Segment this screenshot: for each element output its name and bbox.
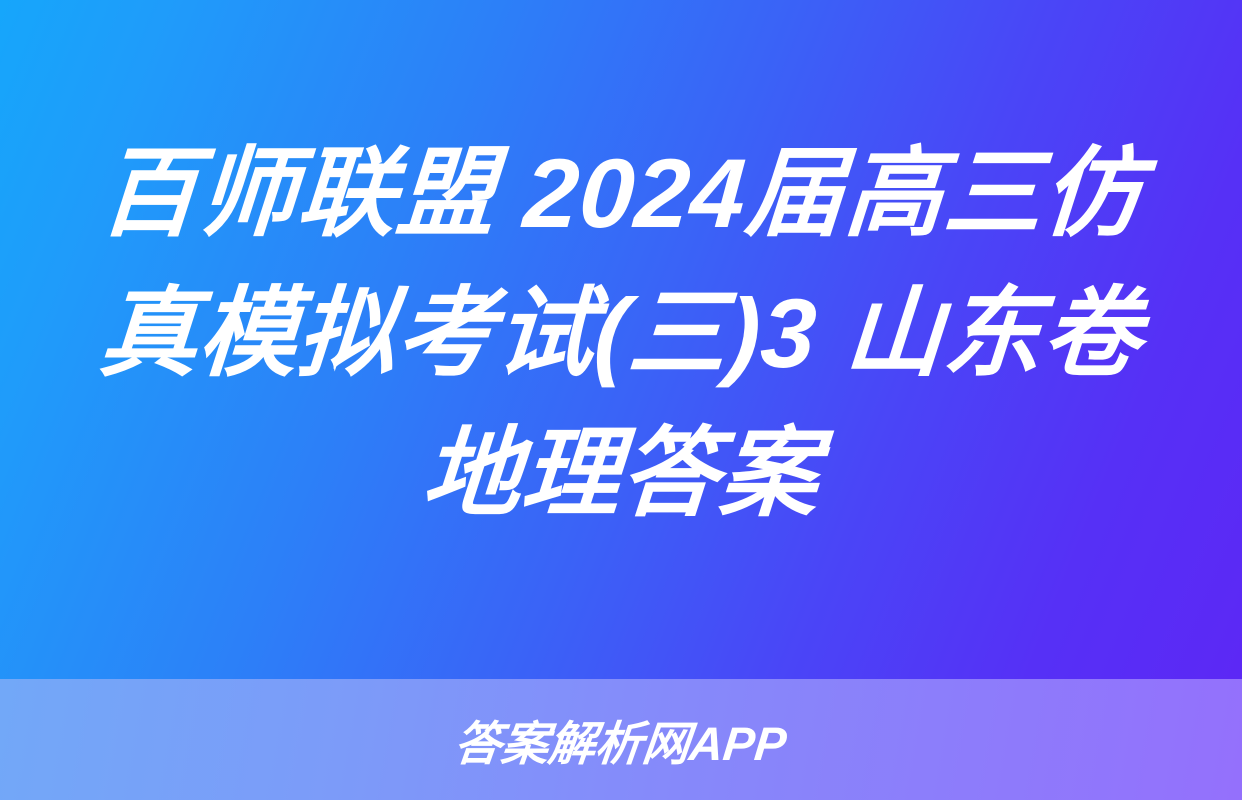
title-line-2: 真模拟考试(三)3 山东卷: [95, 263, 1147, 403]
footer-watermark-area: 答案解析网APP: [0, 679, 1242, 800]
title-line-3: 地理答案: [418, 403, 824, 543]
title-line-1: 百师联盟 2024届高三仿: [95, 123, 1147, 263]
poster-canvas: 百师联盟 2024届高三仿 真模拟考试(三)3 山东卷 地理答案 答案解析网AP…: [0, 0, 1242, 800]
app-watermark-label: 答案解析网APP: [452, 705, 791, 774]
hero-title-block: 百师联盟 2024届高三仿 真模拟考试(三)3 山东卷 地理答案: [0, 0, 1242, 679]
